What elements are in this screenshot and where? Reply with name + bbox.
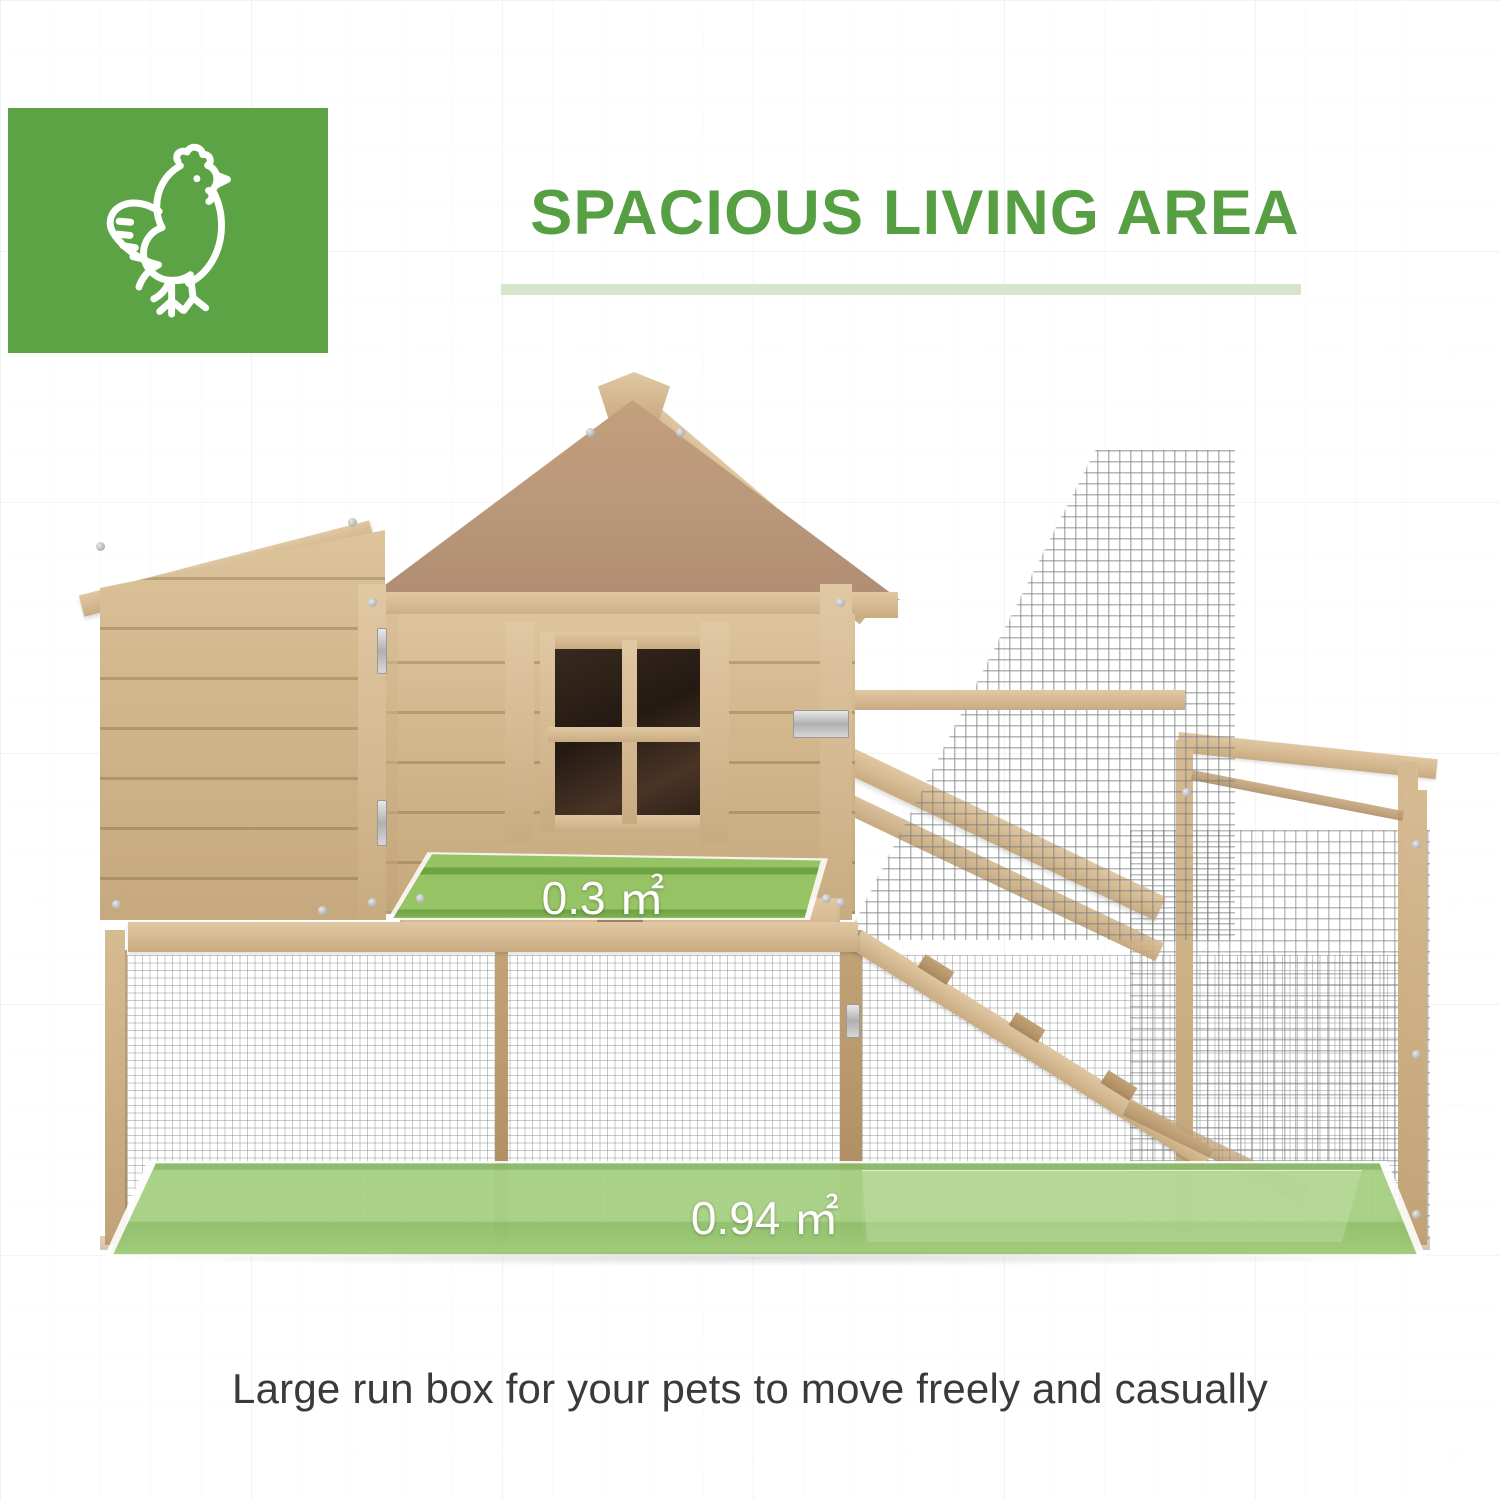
screw: [676, 428, 685, 437]
run-door-latch[interactable]: [846, 1004, 860, 1038]
screw: [96, 542, 105, 551]
screw: [1412, 1050, 1421, 1059]
window-shutter-right: [700, 622, 729, 844]
screw: [1412, 1210, 1421, 1219]
screw: [112, 900, 121, 909]
run-horizontal-rail: [855, 690, 1185, 710]
door-hinge-top[interactable]: [377, 628, 387, 674]
title-underline: [501, 284, 1301, 295]
base-rail-right: [1405, 790, 1427, 1245]
house-left-wall: [100, 530, 385, 920]
overlay-label-run-floor: 0.94 ㎡: [100, 1182, 1430, 1248]
screw: [368, 598, 377, 607]
metal-latch[interactable]: [793, 710, 849, 738]
chicken-badge: [8, 108, 328, 353]
gable-panel: [365, 400, 900, 600]
chicken-icon: [84, 138, 252, 323]
screw: [368, 898, 377, 907]
door-hinge-bottom[interactable]: [377, 800, 387, 846]
screw: [836, 598, 845, 607]
screw: [416, 894, 425, 903]
screw: [586, 428, 595, 437]
screw: [318, 906, 327, 915]
coop-window: [540, 632, 718, 832]
screw: [348, 518, 357, 527]
window-shutter-left: [505, 622, 534, 844]
page-title: SPACIOUS LIVING AREA: [500, 182, 1330, 245]
screw: [836, 898, 845, 907]
product-photo: 0.3 ㎡ 0.94 ㎡: [0, 370, 1500, 1300]
caption-text: Large run box for your pets to move free…: [0, 1365, 1500, 1413]
product-shadow: [110, 1250, 1420, 1266]
overlay-label-nesting-box: 0.3 ㎡: [378, 862, 828, 928]
screw: [1182, 788, 1191, 797]
screw: [1412, 840, 1421, 849]
window-mullion-horizontal: [548, 727, 710, 742]
screw: [822, 894, 831, 903]
